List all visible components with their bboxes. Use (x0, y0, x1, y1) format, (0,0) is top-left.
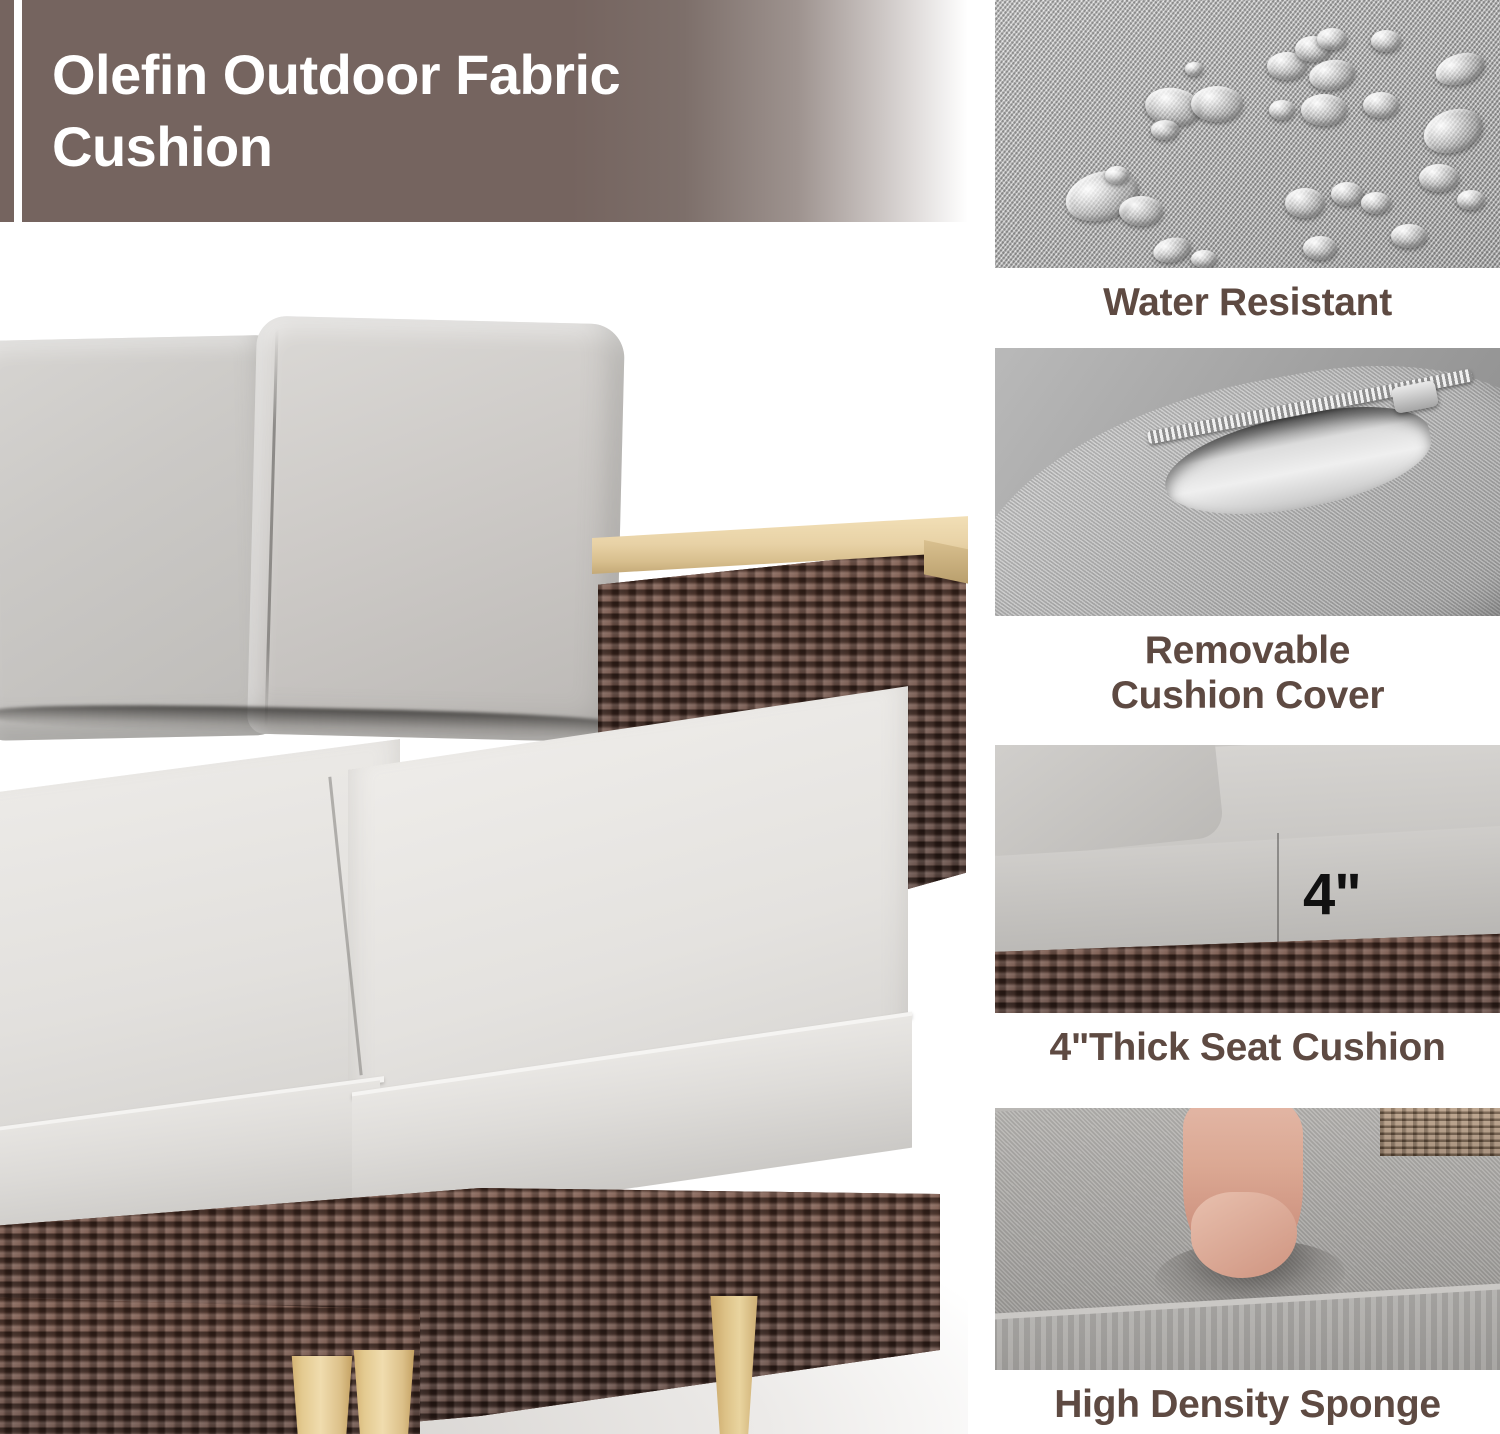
hand-pressing-sponge-photo (995, 1108, 1500, 1370)
feature-caption-line-2: Cushion Cover (995, 673, 1500, 718)
page-title-line-2: Cushion (52, 111, 968, 183)
feature-caption-thick-seat-cushion: 4"Thick Seat Cushion (995, 1013, 1500, 1070)
back-cushion-right (247, 316, 625, 743)
header-banner: Olefin Outdoor Fabric Cushion (0, 0, 968, 222)
seat-cushion-thickness-photo: 4" (995, 745, 1500, 1013)
feature-removable-cushion-cover: Removable Cushion Cover (995, 348, 1500, 718)
header-stripe-gap (14, 0, 22, 222)
header-title-block: Olefin Outdoor Fabric Cushion (22, 0, 968, 222)
feature-panel-column: Water Resistant Removable Cushion Cover … (995, 0, 1500, 1434)
thickness-badge: 4" (1303, 861, 1361, 928)
page-title-line-1: Olefin Outdoor Fabric (52, 39, 968, 111)
feature-high-density-sponge: High Density Sponge (995, 1108, 1500, 1427)
water-droplets-on-fabric-photo (995, 0, 1500, 268)
feature-caption-removable-cushion-cover: Removable Cushion Cover (995, 616, 1500, 718)
unzipped-cushion-cover-photo (995, 348, 1500, 616)
wicker-corner (1380, 1108, 1500, 1156)
feature-water-resistant: Water Resistant (995, 0, 1500, 325)
feature-caption-high-density-sponge: High Density Sponge (995, 1370, 1500, 1427)
main-product-photo (0, 228, 968, 1434)
back-cushion-left (0, 335, 280, 741)
header-accent-stripe (0, 0, 14, 222)
feature-caption-water-resistant: Water Resistant (995, 268, 1500, 325)
cushion-seam-line (1277, 833, 1279, 943)
sofa-leg-front-left (286, 1356, 358, 1434)
feature-caption-line-1: Removable (995, 628, 1500, 673)
feature-thick-seat-cushion: 4" 4"Thick Seat Cushion (995, 745, 1500, 1070)
